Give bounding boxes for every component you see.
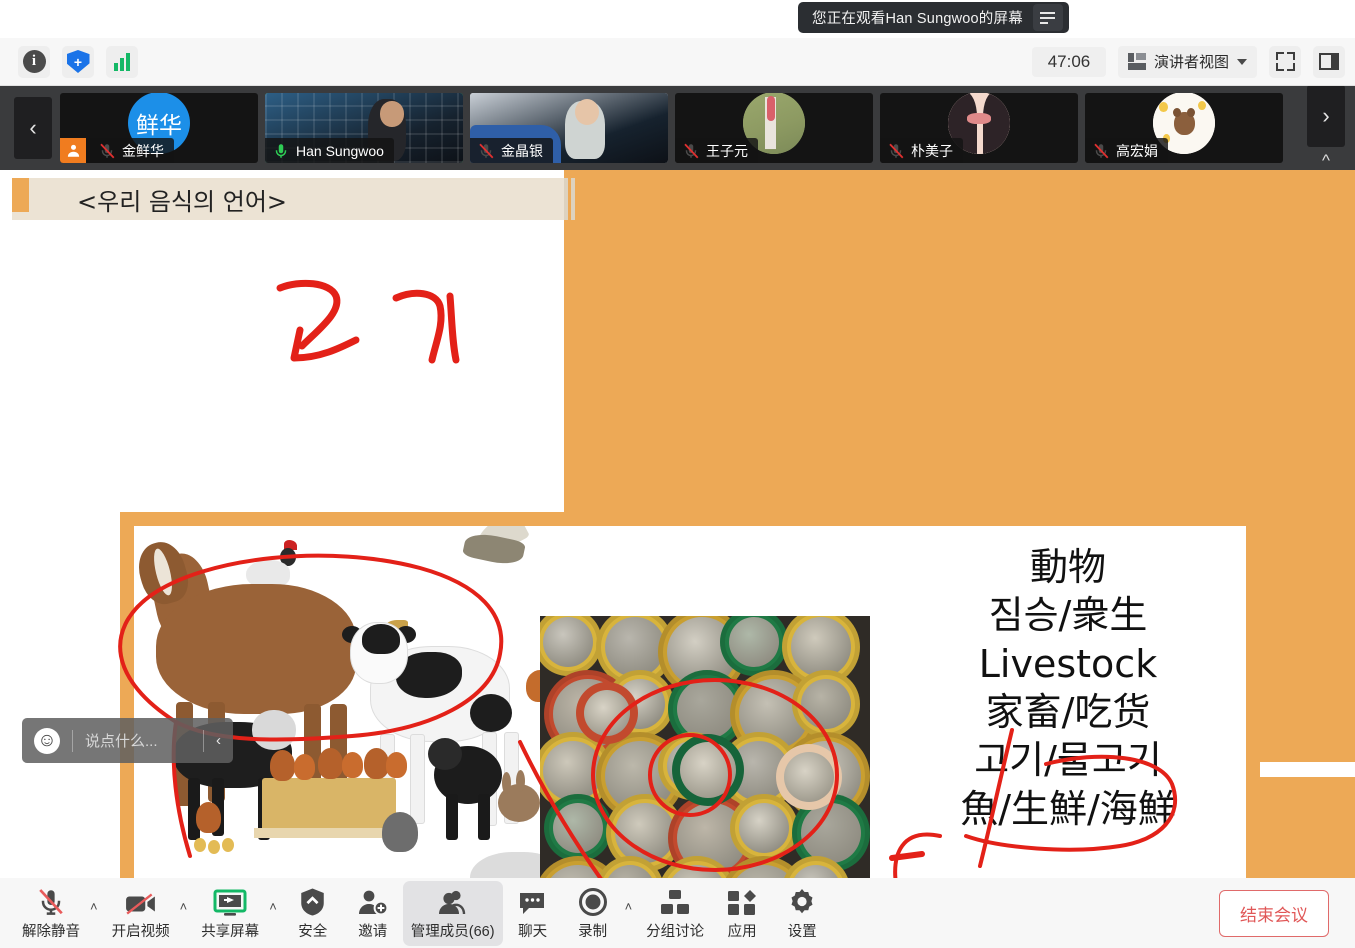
slide-text-line: 家畜/吃货 — [986, 689, 1151, 735]
participant-name: 金鲜华 — [122, 141, 164, 161]
speaker-view-icon — [1128, 53, 1146, 70]
participant-nameplate: 王子元 — [675, 138, 758, 163]
slide-title-ticks — [563, 178, 579, 220]
participant-tiles: 鲜华 金鲜华 Han Sungwoo 金晶银 — [60, 93, 1283, 163]
smiley-icon[interactable]: ☺ — [34, 728, 60, 754]
fish-market-photo — [540, 616, 870, 878]
participant-tile[interactable]: 朴美子 — [880, 93, 1078, 163]
fish-pile — [739, 803, 789, 853]
network-stats-icon — [114, 53, 130, 71]
microphone-muted-icon — [1091, 142, 1111, 160]
microphone-icon — [271, 142, 291, 160]
toolbar-button-label: 管理成员(66) — [411, 920, 495, 941]
chat-quick-bar[interactable]: ☺ 说点什么... ‹ — [22, 718, 233, 763]
chat-bubble-icon — [518, 885, 548, 917]
info-icon: i — [23, 50, 46, 73]
shield-icon — [299, 885, 326, 917]
record-icon — [578, 885, 608, 917]
shield-plus-icon: + — [67, 50, 90, 73]
chevron-left-icon[interactable]: ‹ — [216, 732, 221, 749]
toolbar-button-record[interactable]: 录制 — [563, 881, 623, 946]
participant-nameplate: 金鲜华 — [60, 138, 174, 163]
toolbar-button-label: 开启视频 — [112, 920, 170, 941]
participant-name: 金晶银 — [501, 141, 543, 161]
presentation-slide: <우리 음식의 언어> — [0, 170, 1355, 878]
fish-pile — [791, 617, 851, 677]
toolbar-button-label: 应用 — [728, 920, 757, 941]
view-mode-label: 演讲者视图 — [1154, 51, 1229, 72]
chevron-down-icon — [1237, 59, 1247, 65]
slide-text-line: 짐승/衆生 — [989, 592, 1148, 638]
filmstrip-next-button[interactable]: › — [1307, 85, 1345, 147]
gear-icon — [787, 885, 817, 917]
fish-pile — [584, 690, 630, 736]
participant-nameplate: 高宏娟 — [1085, 138, 1168, 163]
toolbar-button-label: 安全 — [298, 920, 327, 941]
fish-pile — [605, 617, 665, 677]
chevron-left-icon: ‹ — [29, 115, 36, 141]
fish-pile — [677, 679, 737, 739]
toolbar-button-share-screen[interactable]: 共享屏幕 — [193, 881, 267, 946]
view-mode-selector[interactable]: 演讲者视图 — [1118, 46, 1257, 78]
fish-pile — [801, 803, 861, 863]
side-panel-button[interactable] — [1313, 46, 1345, 78]
info-button[interactable]: i — [18, 46, 50, 78]
chat-input[interactable]: 说点什么... — [85, 730, 191, 751]
slide-text-column: 動物짐승/衆生Livestock家畜/吃货고기/물고기魚/生鮮/海鮮 — [870, 530, 1266, 878]
participants-icon — [437, 885, 469, 917]
shared-screen-stage[interactable]: <우리 음식의 언어> — [0, 170, 1355, 878]
participant-name: 高宏娟 — [1116, 141, 1158, 161]
fish-pile — [784, 752, 834, 802]
chevron-up-icon[interactable]: ^ — [1322, 151, 1330, 171]
slide-title-band: <우리 음식의 언어> — [12, 178, 564, 220]
side-panel-icon — [1319, 53, 1339, 70]
top-toolbar: i + 47:06 演讲者视图 — [0, 38, 1355, 86]
chevron-up-icon[interactable]: ˄ — [180, 899, 188, 914]
participant-name: Han Sungwoo — [296, 143, 384, 159]
toolbar-button-breakout-rooms[interactable]: 分组讨论 — [638, 881, 712, 946]
participant-tile[interactable]: Han Sungwoo — [265, 93, 463, 163]
network-stats-button[interactable] — [106, 46, 138, 78]
participant-tile[interactable]: 高宏娟 — [1085, 93, 1283, 163]
microphone-muted-icon — [97, 142, 117, 160]
participant-name: 王子元 — [706, 141, 748, 161]
video-camera-off-icon — [125, 885, 157, 917]
breakout-rooms-icon — [660, 885, 690, 917]
fish-pile — [543, 741, 603, 801]
participant-tile[interactable]: 金晶银 — [470, 93, 668, 163]
encryption-button[interactable]: + — [62, 46, 94, 78]
toolbar-button-label: 聊天 — [518, 920, 547, 941]
microphone-muted-icon — [681, 142, 701, 160]
slide-text-line: Livestock — [979, 641, 1157, 687]
viewing-screen-banner: 您正在观看Han Sungwoo的屏幕 — [798, 2, 1069, 33]
chevron-up-icon[interactable]: ˄ — [90, 899, 98, 914]
add-person-icon — [358, 885, 388, 917]
toolbar-button-label: 设置 — [788, 920, 817, 941]
participant-nameplate: Han Sungwoo — [265, 138, 394, 163]
microphone-muted-icon — [886, 142, 906, 160]
host-badge — [60, 138, 86, 163]
participant-filmstrip: ‹ 鲜华 金鲜华 Han Sungwoo 金晶银 — [0, 86, 1355, 170]
viewing-screen-label: 您正在观看Han Sungwoo的屏幕 — [812, 7, 1023, 28]
bottom-toolbar: 解除静音˄ 开启视频˄ 共享屏幕˄ 安全 邀请 — [0, 878, 1355, 948]
share-screen-icon — [213, 885, 247, 917]
microphone-muted-icon — [36, 885, 66, 917]
chat-divider — [72, 730, 73, 752]
slide-text-line: 고기/물고기 — [974, 737, 1162, 783]
slide-text-line: 動物 — [1030, 544, 1106, 590]
chevron-up-icon[interactable]: ˄ — [625, 899, 633, 914]
fish-pile — [680, 742, 736, 798]
participant-name: 朴美子 — [911, 141, 953, 161]
participant-tile[interactable]: 王子元 — [675, 93, 873, 163]
slide-text-line: 魚/生鮮/海鮮 — [960, 786, 1176, 832]
toolbar-button-gear[interactable]: 设置 — [772, 881, 832, 946]
filmstrip-prev-button[interactable]: ‹ — [14, 97, 52, 159]
end-meeting-button[interactable]: 结束会议 — [1219, 890, 1329, 937]
page-title: <우리 음식의 언어> — [77, 182, 287, 217]
fish-pile — [615, 803, 675, 863]
slide-title-flag — [12, 178, 29, 212]
fish-pile — [801, 679, 851, 729]
toolbar-button-chat-bubble[interactable]: 聊天 — [503, 881, 563, 946]
fish-pile — [553, 803, 603, 853]
toolbar-button-label: 解除静音 — [22, 920, 80, 941]
microphone-muted-icon — [476, 142, 496, 160]
fish-pile — [543, 617, 593, 667]
slide-content-frame: 動物짐승/衆生Livestock家畜/吃货고기/물고기魚/生鮮/海鮮 — [120, 512, 1260, 878]
chevron-up-icon[interactable]: ˄ — [269, 899, 277, 914]
participant-nameplate: 朴美子 — [880, 138, 963, 163]
fish-pile — [729, 617, 779, 667]
toolbar-button-label: 录制 — [578, 920, 607, 941]
toolbar-button-label: 分组讨论 — [646, 920, 704, 941]
fullscreen-icon — [1276, 52, 1295, 71]
toolbar-button-video-camera-off[interactable]: 开启视频 — [104, 881, 178, 946]
chevron-right-icon: › — [1322, 103, 1329, 129]
toolbar-button-add-person[interactable]: 邀请 — [343, 881, 403, 946]
participant-nameplate: 金晶银 — [470, 138, 553, 163]
toolbar-button-apps[interactable]: 应用 — [712, 881, 772, 946]
chat-divider-2 — [203, 730, 204, 752]
toolbar-button-participants[interactable]: 管理成员(66) — [403, 881, 503, 946]
apps-icon — [727, 885, 757, 917]
toolbar-button-label: 邀请 — [358, 920, 387, 941]
hamburger-menu-icon[interactable] — [1033, 4, 1063, 31]
farm-animals-collage — [134, 526, 564, 878]
toolbar-button-microphone-muted[interactable]: 解除静音 — [14, 881, 88, 946]
participant-tile[interactable]: 鲜华 金鲜华 — [60, 93, 258, 163]
meeting-timer: 47:06 — [1032, 47, 1106, 77]
toolbar-button-shield[interactable]: 安全 — [283, 881, 343, 946]
fullscreen-button[interactable] — [1269, 46, 1301, 78]
toolbar-button-label: 共享屏幕 — [201, 920, 259, 941]
